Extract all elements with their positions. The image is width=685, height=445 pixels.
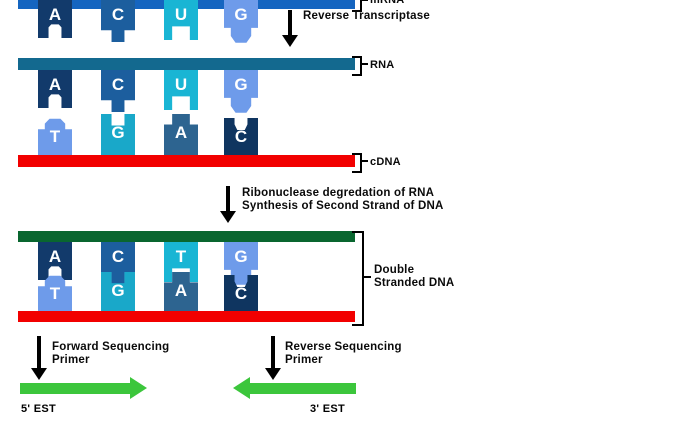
- rna-bracket-tick: [360, 63, 368, 65]
- dsdna-bottom-base-G-letter: G: [111, 281, 124, 300]
- dsdna-bottom-strand-bar: [18, 311, 355, 322]
- cdna-base-A: A: [164, 114, 198, 158]
- ribonuclease-arrow-shaft: [226, 186, 230, 213]
- forward-primer-green-shaft: [20, 383, 130, 394]
- rna-label: RNA: [370, 59, 394, 72]
- dsdna-top-base-T-letter: T: [176, 247, 186, 266]
- dsdna-top-base-G-letter: G: [234, 247, 247, 266]
- forward-primer-green-arrowhead: [130, 377, 147, 399]
- dsdna-top-base-C-letter: C: [112, 247, 124, 266]
- mrna-base-G-letter: G: [234, 5, 247, 24]
- rna-base-A-letter: A: [49, 75, 61, 94]
- dsdna-top-strand-bar: [18, 231, 355, 242]
- mrna-base-U: U: [164, 0, 198, 40]
- reverse-primer-arrow-shaft: [271, 336, 275, 370]
- cdna-base-T-letter: T: [50, 127, 60, 146]
- cdna-base-C-letter: C: [235, 127, 247, 146]
- mrna-label: mRNA: [370, 0, 404, 7]
- dsdna-bottom-base-T-letter: T: [50, 284, 60, 303]
- rna-base-A: A: [38, 70, 72, 108]
- cdna-base-A-letter: A: [175, 123, 187, 142]
- forward-primer-arrow-head: [31, 368, 47, 380]
- mrna-base-G: G: [224, 0, 258, 45]
- rna-base-C: C: [101, 70, 135, 112]
- rna-base-G: G: [224, 70, 258, 115]
- ribonuclease-arrow-head: [220, 211, 236, 223]
- mrna-base-C: C: [101, 0, 135, 42]
- dsdna-bottom-base-C-letter: C: [235, 284, 247, 303]
- dsdna-bottom-base-A: A: [164, 272, 198, 315]
- cdna-base-G: G: [101, 114, 135, 158]
- cdna-label: cDNA: [370, 156, 401, 169]
- cdna-base-T: T: [38, 118, 72, 158]
- mrna-base-A: A: [38, 0, 72, 38]
- reverse-primer-green-arrowhead: [233, 377, 250, 399]
- dsdna-bracket: [352, 231, 364, 326]
- mrna-base-C-letter: C: [112, 5, 124, 24]
- rna-base-G-letter: G: [234, 75, 247, 94]
- ribonuclease-label: Ribonuclease degredation of RNA Synthesi…: [242, 187, 443, 213]
- reverse-transcriptase-arrow-shaft: [288, 10, 292, 37]
- reverse-primer-green-shaft: [250, 383, 356, 394]
- dsdna-bottom-base-G: G: [101, 272, 135, 315]
- forward-primer-label: Forward Sequencing Primer: [52, 341, 169, 367]
- cdna-bracket-tick: [360, 160, 368, 162]
- cdna-est-diagram: A C U G mRNA Reverse Transcriptase A C U…: [0, 0, 685, 445]
- dsdna-bracket-tick: [362, 276, 371, 278]
- reverse-transcriptase-arrow-head: [282, 35, 298, 47]
- rna-base-U-letter: U: [175, 75, 187, 94]
- cdna-base-G-letter: G: [111, 123, 124, 142]
- mrna-base-U-letter: U: [175, 5, 187, 24]
- rna-base-U: U: [164, 70, 198, 110]
- cdna-base-C: C: [224, 118, 258, 158]
- rna-strand-bar: [18, 58, 355, 70]
- dsdna-bottom-base-T: T: [38, 275, 72, 315]
- mrna-bracket-tick: [360, 0, 368, 1]
- dsdna-label: Double Stranded DNA: [374, 264, 454, 290]
- rna-base-C-letter: C: [112, 75, 124, 94]
- cdna-strand-bar: [18, 155, 355, 167]
- reverse-primer-arrow-head: [265, 368, 281, 380]
- cdna-bracket: [352, 153, 362, 173]
- forward-primer-arrow-shaft: [37, 336, 41, 370]
- reverse-transcriptase-label: Reverse Transcriptase: [303, 10, 430, 23]
- dsdna-bottom-base-C: C: [224, 275, 258, 315]
- three-prime-est-label: 3' EST: [310, 403, 345, 415]
- rna-bracket: [352, 56, 362, 76]
- reverse-primer-label: Reverse Sequencing Primer: [285, 341, 402, 367]
- dsdna-top-base-A-letter: A: [49, 247, 61, 266]
- mrna-base-A-letter: A: [49, 5, 61, 24]
- dsdna-bottom-base-A-letter: A: [175, 281, 187, 300]
- five-prime-est-label: 5' EST: [21, 403, 56, 415]
